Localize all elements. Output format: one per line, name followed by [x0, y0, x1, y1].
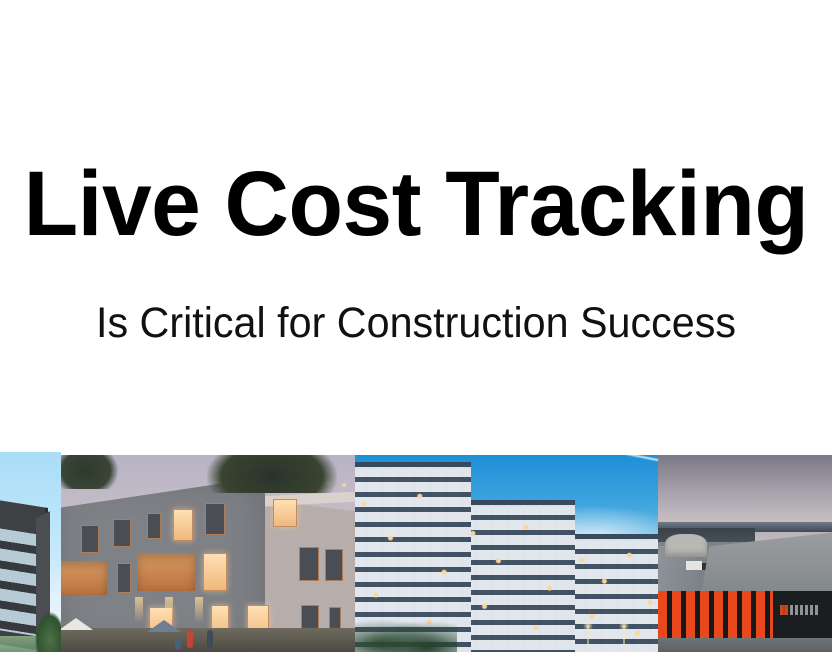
tree-canopy	[61, 455, 119, 489]
panel-residential-block	[61, 455, 355, 652]
window-lit	[173, 509, 193, 541]
outbuilding	[665, 534, 707, 558]
overcast-sky	[658, 455, 832, 526]
window	[325, 549, 343, 581]
warehouse-signage	[780, 605, 818, 615]
street-lamp	[587, 626, 589, 648]
street-lamp	[623, 626, 625, 648]
slide-canvas: Live Cost Tracking Is Critical for Const…	[0, 0, 832, 652]
wall-light	[165, 597, 173, 623]
apartment-tower	[569, 534, 658, 652]
window	[113, 519, 131, 547]
wall-light	[135, 597, 143, 623]
balcony-loggia	[61, 561, 107, 595]
window	[147, 513, 161, 539]
hero-section: Live Cost Tracking Is Critical for Const…	[0, 0, 832, 452]
balcony-loggia	[137, 553, 195, 591]
tree-cluster	[355, 616, 457, 652]
image-strip	[0, 452, 832, 652]
wall-light	[195, 597, 203, 623]
window	[299, 547, 319, 581]
truck	[686, 561, 702, 570]
warehouse-entrance	[773, 591, 832, 640]
window	[205, 503, 225, 535]
page-title: Live Cost Tracking	[12, 156, 819, 252]
person	[187, 630, 193, 648]
loading-apron	[658, 638, 832, 652]
tower-lit-windows	[569, 534, 658, 652]
tree-canopy	[207, 455, 337, 493]
window	[117, 563, 131, 593]
panel-apartment-towers	[355, 455, 658, 652]
person	[207, 630, 213, 648]
tree	[35, 612, 61, 652]
panel-industrial-warehouse	[658, 455, 832, 652]
apartment-tower	[459, 500, 575, 652]
window-lit	[273, 499, 297, 527]
window	[81, 525, 99, 553]
panel-office-building	[0, 452, 61, 652]
window-lit	[203, 553, 227, 591]
page-subtitle: Is Critical for Construction Success	[17, 298, 816, 348]
person	[175, 638, 181, 650]
tower-lit-windows	[459, 500, 575, 652]
